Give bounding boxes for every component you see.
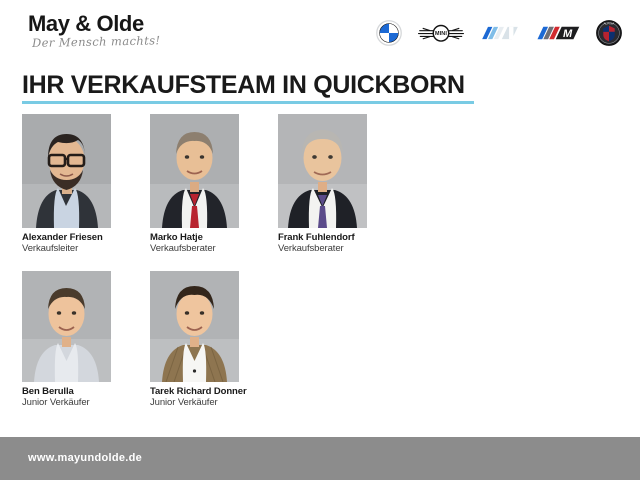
title-underline [22, 101, 474, 104]
team-member-card[interactable]: Alexander Friesen Verkaufsleiter [22, 114, 111, 254]
member-name: Frank Fuhlendorf [278, 232, 367, 243]
svg-text:MINI: MINI [435, 31, 447, 37]
avatar [150, 271, 239, 382]
svg-text:ALPINA: ALPINA [604, 22, 615, 26]
svg-text:M: M [563, 28, 573, 40]
alpina-logo: ALPINA [596, 20, 622, 46]
member-role: Junior Verkäufer [22, 397, 111, 408]
page-title: IHR VERKAUFSTEAM IN QUICKBORN [22, 72, 474, 98]
page-title-block: IHR VERKAUFSTEAM IN QUICKBORN [22, 72, 474, 104]
bmw-m-logo: M [536, 23, 580, 43]
member-name: Marko Hatje [150, 232, 239, 243]
page-header: May & Olde Der Mensch machts! [0, 0, 640, 62]
member-role: Junior Verkäufer [150, 397, 239, 408]
member-name: Ben Berulla [22, 386, 111, 397]
team-grid: Alexander Friesen Verkaufsleiter [22, 114, 622, 408]
mini-logo: MINI [418, 22, 464, 44]
avatar [22, 114, 111, 228]
company-logo[interactable]: May & Olde Der Mensch machts! [28, 13, 268, 50]
team-member-card[interactable]: Tarek Richard Donner Junior Verkäufer [150, 271, 239, 408]
bmw-logo [376, 20, 402, 46]
website-url[interactable]: www.mayundolde.de [28, 452, 142, 464]
oem-logo-row: MINI M [376, 18, 622, 48]
page-footer: www.mayundolde.de [0, 437, 640, 480]
team-member-card[interactable]: Ben Berulla Junior Verkäufer [22, 271, 111, 408]
bmw-i-logo [480, 23, 520, 43]
member-role: Verkaufsberater [150, 243, 239, 254]
member-role: Verkaufsberater [278, 243, 367, 254]
avatar [278, 114, 367, 228]
team-member-card[interactable]: Frank Fuhlendorf Verkaufsberater [278, 114, 367, 254]
member-role: Verkaufsleiter [22, 243, 111, 254]
member-name: Alexander Friesen [22, 232, 111, 243]
avatar [150, 114, 239, 228]
member-name: Tarek Richard Donner [150, 386, 239, 397]
team-row-1: Alexander Friesen Verkaufsleiter [22, 114, 622, 254]
team-row-2: Ben Berulla Junior Verkäufer [22, 271, 622, 408]
team-member-card[interactable]: Marko Hatje Verkaufsberater [150, 114, 239, 254]
avatar [22, 271, 111, 382]
